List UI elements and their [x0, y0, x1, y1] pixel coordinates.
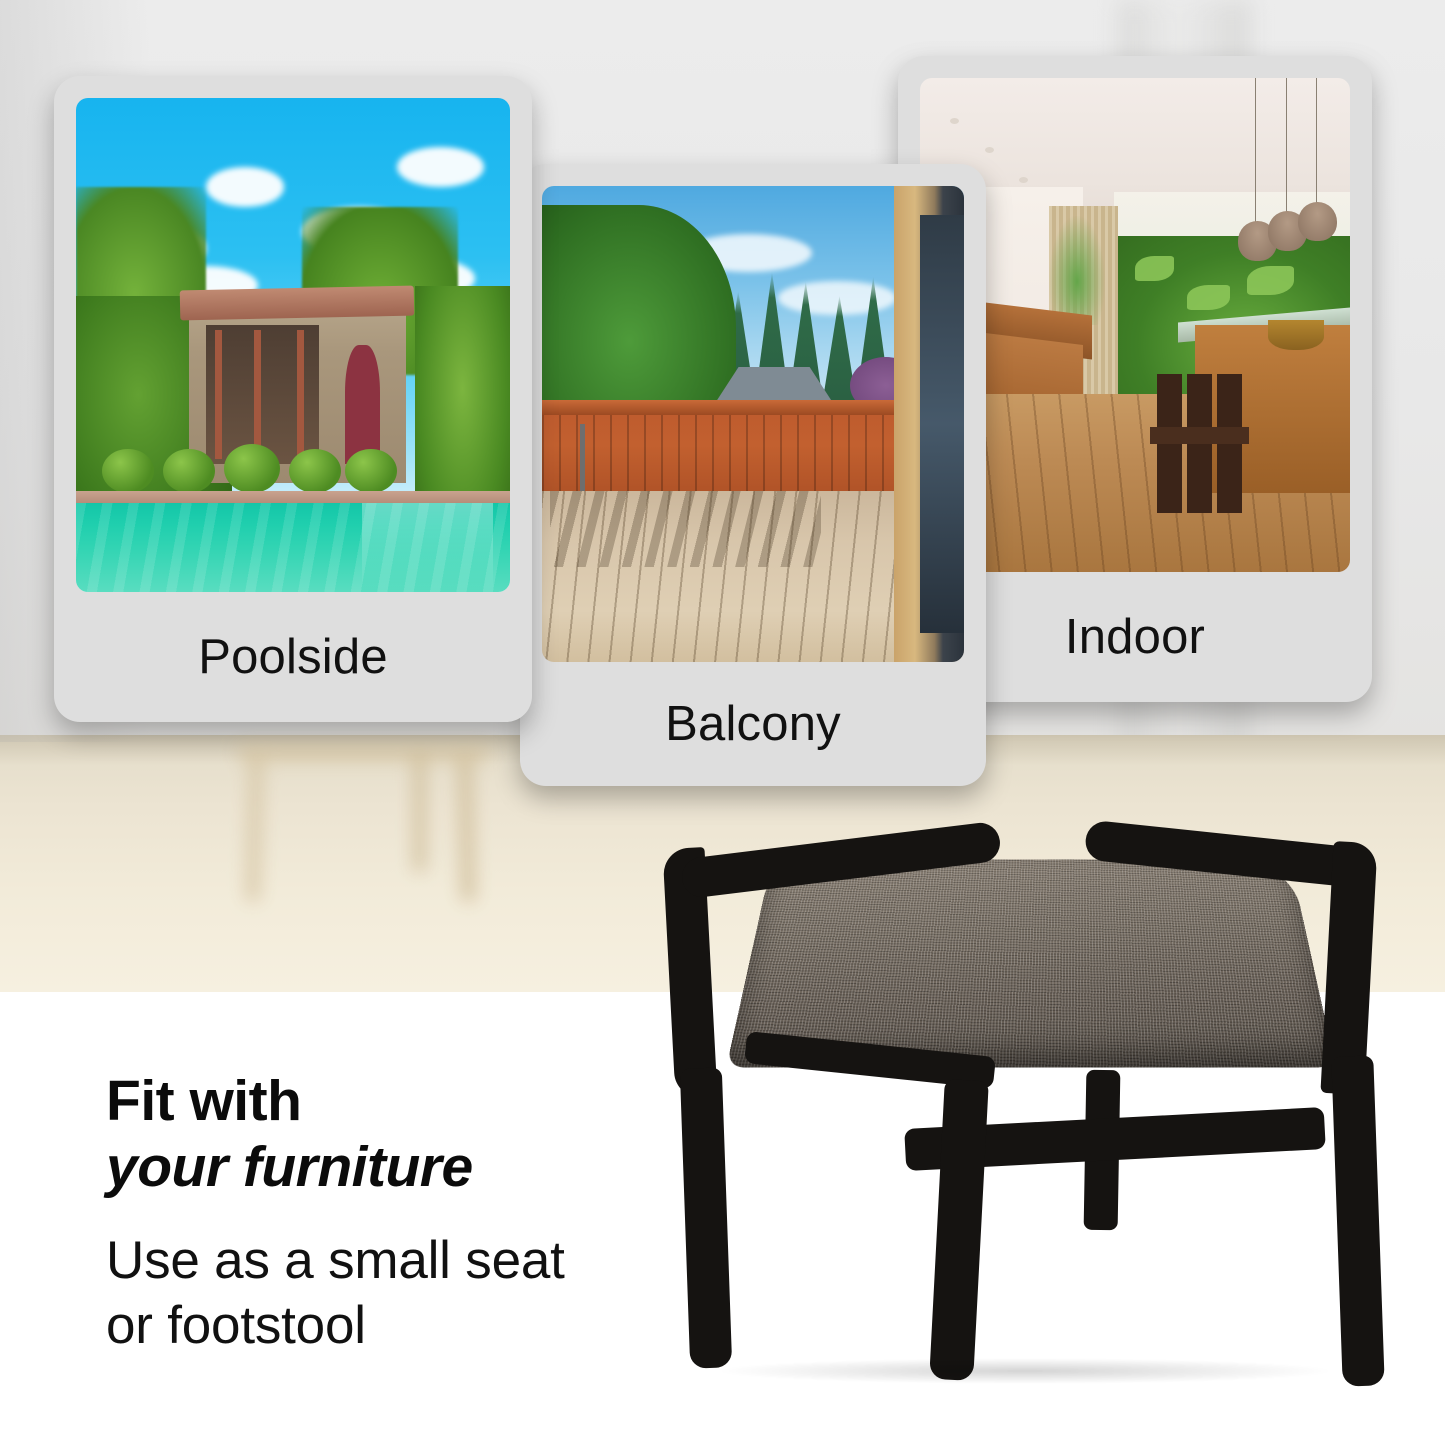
balcony-photo [542, 186, 964, 662]
subtext: Use as a small seat or footstool [106, 1228, 565, 1358]
ottoman-ground-shadow [715, 1358, 1335, 1384]
subtext-line-1: Use as a small seat [106, 1228, 565, 1293]
scene-card-balcony[interactable]: Balcony [520, 164, 986, 786]
ottoman-metal-frame [655, 818, 1395, 1380]
card-label-poolside: Poolside [54, 592, 532, 722]
background-side-table [238, 745, 490, 897]
product-ottoman-image [655, 818, 1395, 1380]
poolside-photo [76, 98, 510, 592]
scene-card-poolside[interactable]: Poolside [54, 76, 532, 722]
subtext-line-2: or footstool [106, 1293, 565, 1358]
card-label-balcony: Balcony [520, 662, 986, 786]
product-feature-poster: Indoor [0, 0, 1445, 1438]
headline: Fit with your furniture [106, 1068, 473, 1200]
headline-line-1: Fit with [106, 1068, 473, 1134]
headline-line-2: your furniture [106, 1134, 473, 1200]
